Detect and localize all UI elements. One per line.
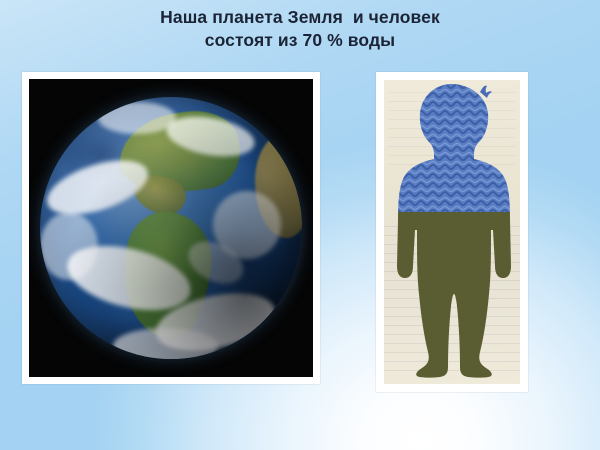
person-silhouette-icon (384, 80, 520, 384)
title-line-2: состоят из 70 % воды (0, 29, 600, 52)
earth-globe (40, 97, 302, 359)
hair-tuft-icon (480, 86, 492, 98)
globe-shading (40, 97, 302, 359)
earth-image-frame (22, 72, 320, 384)
page-title: Наша планета Земля и человек состоят из … (0, 6, 600, 52)
earth-image (29, 79, 313, 377)
title-line-1: Наша планета Земля и человек (0, 6, 600, 29)
person-image-frame (376, 72, 528, 392)
slide-canvas: Наша планета Земля и человек состоят из … (0, 0, 600, 450)
person-image (384, 80, 520, 384)
